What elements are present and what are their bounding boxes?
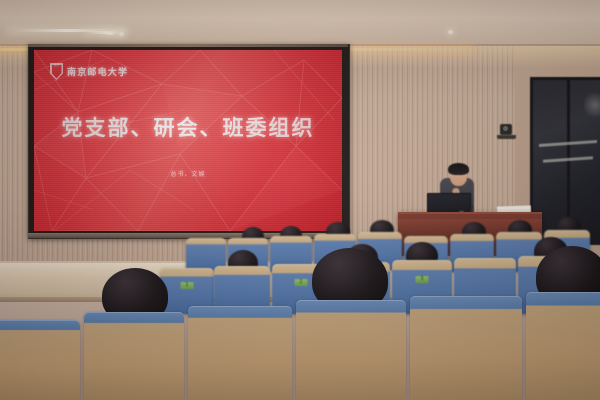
glasses-icon bbox=[450, 172, 467, 176]
camera-bracket bbox=[497, 135, 516, 139]
seat-number-tag: 2 bbox=[295, 279, 308, 286]
seat-back bbox=[0, 320, 80, 400]
slide-subtitle: 总书、文娱 bbox=[34, 169, 342, 178]
auditorium-seat[interactable] bbox=[410, 296, 522, 400]
auditorium-seat[interactable] bbox=[526, 292, 600, 400]
ceiling-light-strip bbox=[104, 32, 116, 35]
ceiling-downlight-icon bbox=[119, 32, 124, 36]
logo-wordmark: 南京邮电大学 bbox=[67, 65, 128, 78]
auditorium-seat[interactable] bbox=[296, 300, 406, 400]
glass-glare bbox=[584, 90, 600, 120]
seat-back bbox=[410, 296, 522, 400]
seat-number-tag: 3 bbox=[416, 276, 429, 283]
auditorium-seat[interactable] bbox=[84, 312, 184, 400]
presentation-slide[interactable]: 南京 南京邮电大学 党支部、研会、班委组织 总书、文娱 bbox=[34, 50, 342, 231]
seat-number-tag: 1 bbox=[181, 282, 194, 289]
lecture-hall-photo: 南京 南京邮电大学 党支部、研会、班委组织 总书、文娱 123 bbox=[0, 0, 600, 400]
ceiling-downlight-icon bbox=[448, 30, 453, 34]
screen-bezel-top bbox=[28, 44, 348, 47]
camera-lens-icon bbox=[503, 126, 508, 131]
auditorium-seat[interactable] bbox=[0, 320, 80, 400]
seat-back bbox=[188, 306, 292, 400]
seat-back bbox=[296, 300, 406, 400]
auditorium-seat[interactable] bbox=[188, 306, 292, 400]
shield-emblem-text: 南京 bbox=[50, 65, 63, 68]
seat-back bbox=[84, 312, 184, 400]
ceiling bbox=[0, 0, 600, 46]
seat-back bbox=[526, 292, 600, 400]
slide-university-logo: 南京 南京邮电大学 bbox=[50, 63, 128, 80]
slide-title: 党支部、研会、班委组织 bbox=[34, 112, 342, 142]
shield-icon: 南京 bbox=[50, 63, 63, 80]
